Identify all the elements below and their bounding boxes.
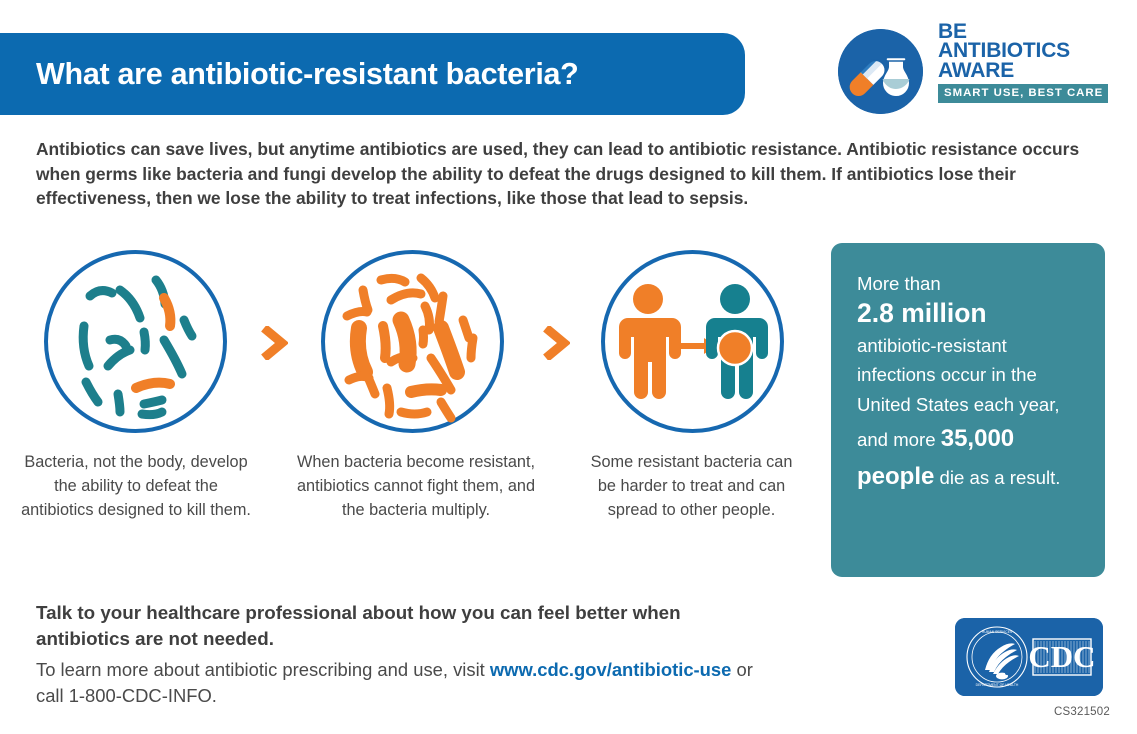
stat-deaths-number: 35,000 [941,425,1014,452]
svg-text:HUMAN SERVICES: HUMAN SERVICES [982,630,1013,634]
step-3-caption: Some resistant bacteria can be harder to… [584,450,799,522]
cdc-logo: HUMAN SERVICES DEPARTMENT OF HEALTH CDC [955,618,1103,696]
logo-wordmark: BE ANTIBIOTICS AWARE SMART USE, BEST CAR… [938,22,1123,103]
infection-marker [718,331,752,365]
logo-line-antibiotics: ANTIBIOTICS [938,41,1123,60]
statistics-callout-box: More than 2.8 million antibiotic-resista… [831,243,1105,577]
step-arrow-1-icon [260,326,288,360]
step-1-bacteria-circle [44,250,227,433]
cta-subtext: To learn more about antibiotic prescribi… [36,657,776,709]
pill-bottle-badge-icon [838,29,923,114]
page-title: What are antibiotic-resistant bacteria? [0,57,579,92]
cdc-website-link[interactable]: www.cdc.gov/antibiotic-use [490,659,732,680]
logo-tagline: SMART USE, BEST CARE [938,84,1108,103]
be-antibiotics-aware-logo: BE ANTIBIOTICS AWARE SMART USE, BEST CAR… [838,22,1123,122]
person-orange [619,284,681,399]
intro-paragraph: Antibiotics can save lives, but anytime … [36,137,1096,211]
stat-tail: die as a result. [940,467,1061,488]
step-2-caption: When bacteria become resistant, antibiot… [296,450,536,522]
stat-people-word: people [857,463,934,490]
logo-line-aware: AWARE [938,61,1123,80]
step-1-caption: Bacteria, not the body, develop the abil… [16,450,256,522]
cs-number: CS321502 [1054,706,1110,718]
header-banner: What are antibiotic-resistant bacteria? [0,33,745,115]
cdc-wordmark: CDC [1028,639,1095,675]
cdc-wordmark-text: CDC [1028,639,1095,674]
step-3-transmission-circle [601,250,784,433]
statistics-text: More than 2.8 million antibiotic-resista… [857,269,1081,497]
cta-sub-prefix: To learn more about antibiotic prescribi… [36,659,490,680]
stat-lead: More than [857,273,941,294]
stat-big-number: 2.8 million [857,298,987,328]
cta-headline: Talk to your healthcare professional abo… [36,600,776,652]
step-2-bacteria-circle [321,250,504,433]
svg-text:DEPARTMENT OF HEALTH: DEPARTMENT OF HEALTH [976,683,1019,687]
step-arrow-2-icon [542,326,570,360]
